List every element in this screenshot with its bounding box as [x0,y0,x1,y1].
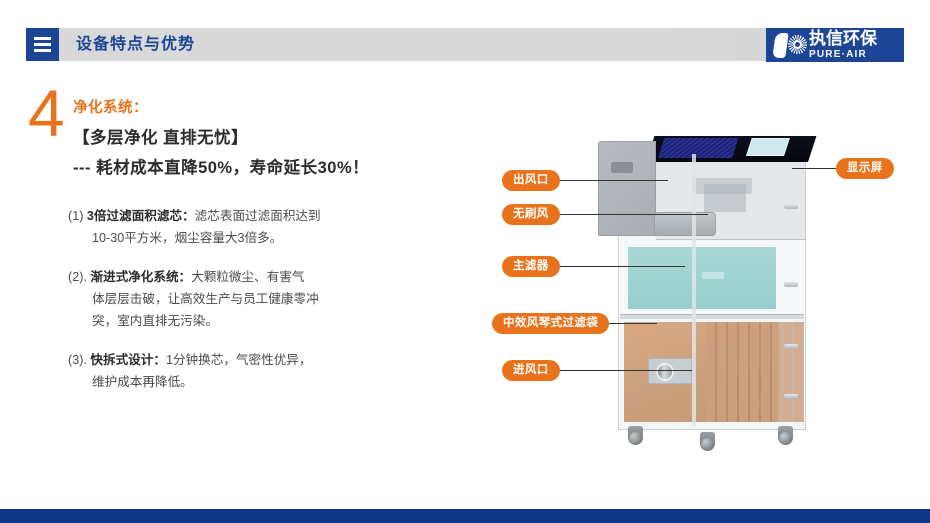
callout-leader-line [560,180,668,182]
callout-label: 主滤器 [502,256,560,277]
callout-brushless-fan: 无刷风 [502,204,708,225]
page-title: 设备特点与优势 [76,28,195,61]
callout-main-filter: 主滤器 [502,256,685,277]
list-item-continuation-2: 突，室内直排无污染。 [68,310,428,332]
callout-label: 显示屏 [836,158,894,179]
caster-wheel [778,426,793,445]
list-item-continuation: 10-30平方米，烟尘容量大3倍多。 [68,227,428,249]
pureair-fan-icon [772,30,808,60]
brand-logo: 执信环保 PURE·AIR [766,28,904,62]
display-screen [746,138,790,156]
list-item-continuation: 体层层击破，让高效生产与员工健康零冲 [68,288,428,310]
headline-group: 净化系统： 【多层净化 直排无忧】 --- 耗材成本直降50%，寿命延长30%！ [73,96,473,178]
list-item-continuation: 维护成本再降低。 [68,371,428,393]
list-item-index: (1) [68,209,83,223]
list-item-index: (3). [68,353,87,367]
logo-name-en: PURE·AIR [809,50,877,60]
callout-filter-bag: 中效风琴式过滤袋 [492,313,657,334]
list-item: (3). 快拆式设计：1分钟换芯，气密性优异， 维护成本再降低。 [68,349,428,393]
list-item: (2). 渐进式净化系统：大颗粒微尘、有害气 体层层击破，让高效生产与员工健康零… [68,266,428,332]
footer-bar [0,509,930,523]
list-item-text: 大颗粒微尘、有害气 [191,270,304,284]
callout-leader-line [609,323,657,325]
callout-label: 中效风琴式过滤袋 [492,313,609,334]
hamburger-icon[interactable] [26,28,59,61]
callout-leader-line [560,370,692,372]
list-item: (1) 3倍过滤面积滤芯：滤芯表面过滤面积达到 10-30平方米，烟尘容量大3倍… [68,205,428,249]
headline-primary: 【多层净化 直排无忧】 [73,124,473,148]
list-item-text: 1分钟换芯，气密性优异， [166,353,312,367]
list-item-bold: 快拆式设计： [90,353,166,367]
section-number: 4 [28,80,65,146]
callout-leader-line [560,214,708,216]
callout-label: 无刷风 [502,204,560,225]
logo-name-cn: 执信环保 [809,31,877,48]
caster-wheel [700,432,715,451]
callout-display-screen: 显示屏 [792,158,894,179]
list-item-index: (2). [68,270,87,284]
callout-outlet: 出风口 [502,170,668,191]
caster-wheel [628,426,643,445]
list-item-text: 滤芯表面过滤面积达到 [195,209,321,223]
list-item-bold: 渐进式净化系统： [90,270,191,284]
callout-label: 出风口 [502,170,560,191]
callout-intake: 进风口 [502,360,692,381]
callout-leader-line [560,266,685,268]
list-item-bold: 3倍过滤面积滤芯： [87,209,195,223]
callout-label: 进风口 [502,360,560,381]
callout-leader-line [792,168,836,170]
section-subtitle: 净化系统： [73,96,473,117]
headline-secondary: --- 耗材成本直降50%，寿命延长30%！ [73,154,473,178]
feature-list: (1) 3倍过滤面积滤芯：滤芯表面过滤面积达到 10-30平方米，烟尘容量大3倍… [68,205,428,410]
